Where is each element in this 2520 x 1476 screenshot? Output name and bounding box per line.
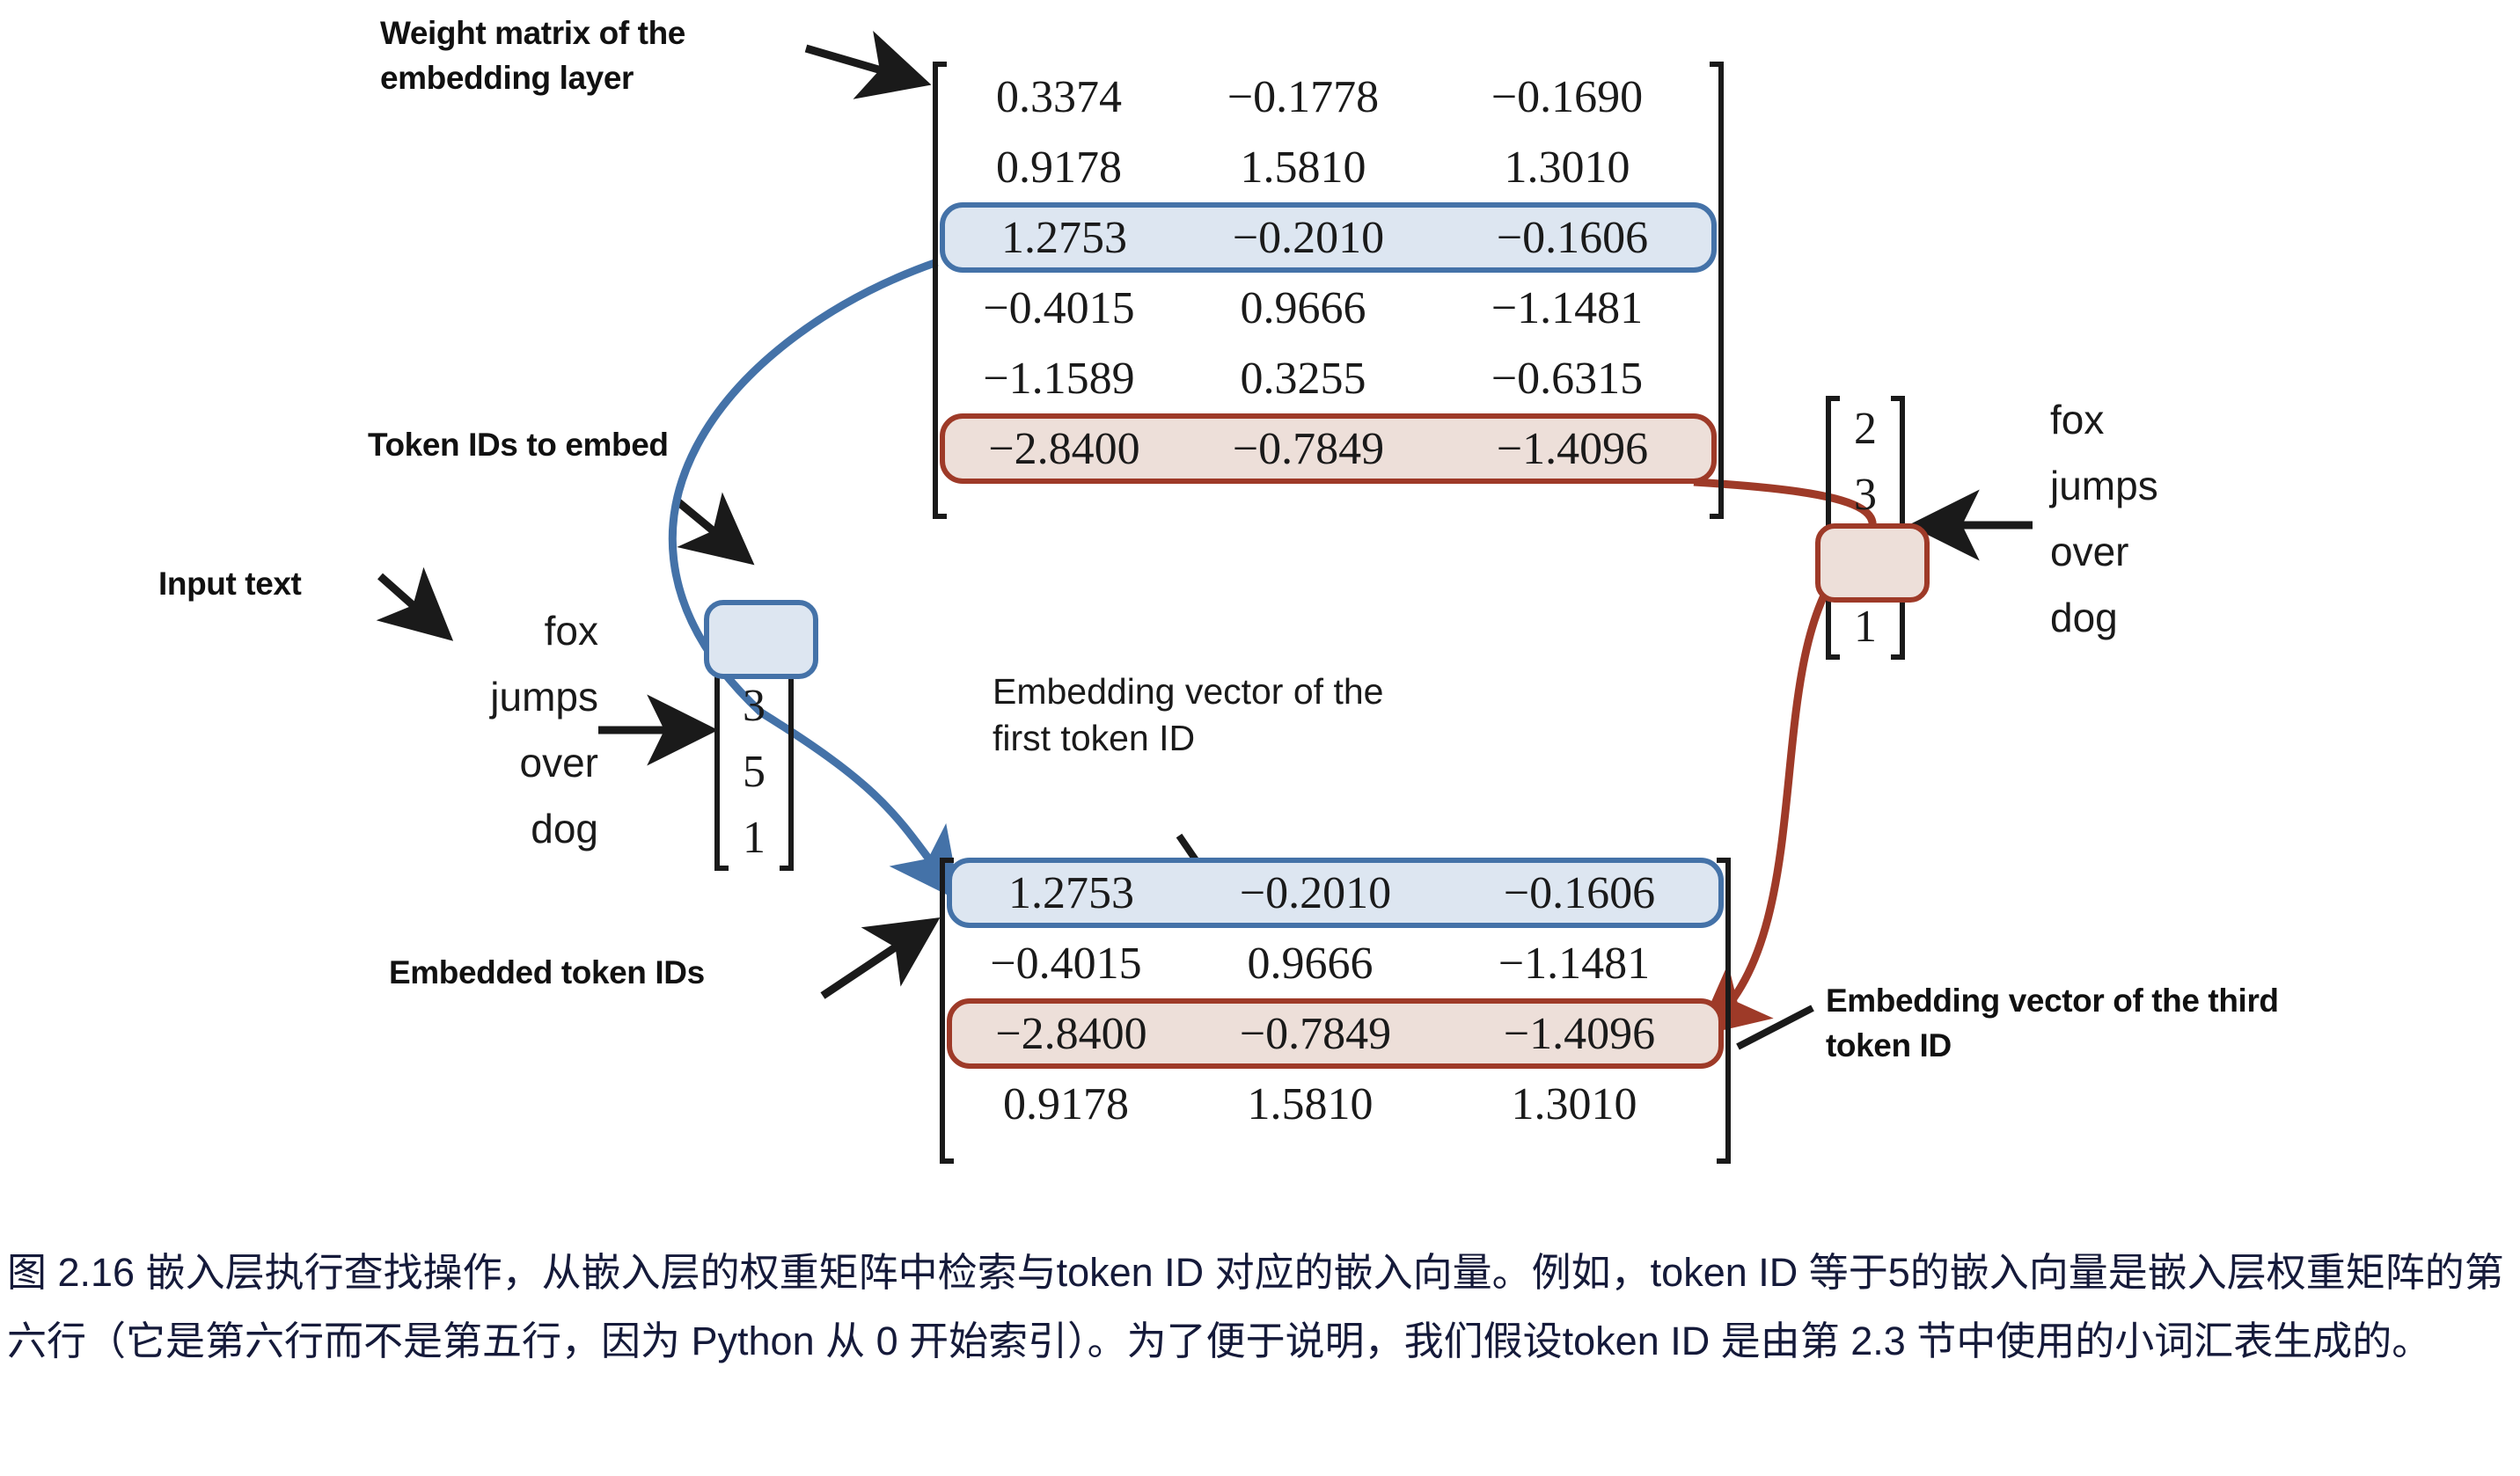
right-words: fox jumps over dog	[2050, 387, 2314, 651]
matrix-cell: −1.1589	[947, 353, 1171, 405]
matrix-cell: −0.7849	[1183, 1008, 1447, 1060]
weight-matrix-row-highlight-red: −2.8400 −0.7849 −1.4096	[940, 413, 1717, 484]
token-id-cell: 3	[1854, 469, 1877, 521]
matrix-cell: −1.4096	[1440, 423, 1704, 475]
matrix-cell: −0.2010	[1183, 867, 1447, 919]
matrix-cell: 1.3010	[1442, 1078, 1706, 1130]
weight-matrix-row: 0.3374 −0.1778 −0.1690	[947, 62, 1710, 132]
token-id-cell: 3	[743, 680, 766, 732]
matrix-cell: −0.1690	[1435, 71, 1699, 123]
embedded-matrix-row-highlight-red: −2.8400 −0.7849 −1.4096	[947, 998, 1724, 1069]
token-id-highlight-blue	[704, 600, 818, 679]
right-word: over	[2050, 519, 2314, 585]
figure-caption: 图 2.16 嵌入层执行查找操作，从嵌入层的权重矩阵中检索与token ID 对…	[7, 1239, 2513, 1376]
embedded-matrix-row: 0.9178 1.5810 1.3010	[954, 1069, 1717, 1139]
token-id-highlight-red	[1815, 523, 1930, 603]
matrix-cell: −2.8400	[959, 1008, 1183, 1060]
label-embedding-vector-third: Embedding vector of the third token ID	[1826, 978, 2442, 1068]
matrix-cell: 1.2753	[959, 867, 1183, 919]
matrix-cell: −2.8400	[952, 423, 1176, 475]
matrix-cell: −1.1481	[1442, 938, 1706, 990]
embedded-matrix: 1.2753 −0.2010 −0.1606 −0.4015 0.9666 −1…	[940, 858, 1731, 1164]
matrix-cell: 0.9178	[954, 1078, 1178, 1130]
arrow-token-ids-to-embed	[678, 501, 744, 556]
input-text-words: fox jumps over dog	[378, 598, 598, 862]
token-id-cell: 5	[743, 746, 766, 798]
matrix-cell: −0.1606	[1440, 212, 1704, 264]
label-token-ids-to-embed: Token IDs to embed	[368, 422, 773, 467]
matrix-cell: −0.4015	[954, 938, 1178, 990]
matrix-cell: −0.1606	[1447, 867, 1711, 919]
embedded-matrix-row-highlight-blue: 1.2753 −0.2010 −0.1606	[947, 858, 1724, 928]
right-word: fox	[2050, 387, 2314, 453]
matrix-cell: 1.5810	[1178, 1078, 1442, 1130]
weight-matrix-row: −1.1589 0.3255 −0.6315	[947, 343, 1710, 413]
right-word: jumps	[2050, 453, 2314, 519]
embedded-matrix-row: −0.4015 0.9666 −1.1481	[954, 928, 1717, 998]
token-id-cell: 1	[1854, 601, 1877, 653]
weight-matrix-row: 0.9178 1.5810 1.3010	[947, 132, 1710, 202]
weight-matrix-row: −0.4015 0.9666 −1.1481	[947, 273, 1710, 343]
matrix-cell: 1.3010	[1435, 142, 1699, 194]
matrix-cell: 0.9666	[1171, 282, 1435, 334]
matrix-cell: 0.3374	[947, 71, 1171, 123]
matrix-cell: −0.7849	[1176, 423, 1440, 475]
matrix-cell: −0.2010	[1176, 212, 1440, 264]
input-word: fox	[378, 598, 598, 664]
matrix-cell: 1.5810	[1171, 142, 1435, 194]
input-word: dog	[378, 796, 598, 862]
leader-embedding-vector-third	[1738, 1008, 1813, 1047]
weight-matrix-row-highlight-blue: 1.2753 −0.2010 −0.1606	[940, 202, 1717, 273]
matrix-cell: 0.3255	[1171, 353, 1435, 405]
arrow-weight-matrix	[806, 48, 918, 81]
token-id-cell: 2	[1854, 403, 1877, 455]
matrix-cell: −0.6315	[1435, 353, 1699, 405]
label-embedding-vector-first: Embedding vector of the first token ID	[993, 669, 1626, 762]
matrix-cell: 1.2753	[952, 212, 1176, 264]
matrix-cell: −0.4015	[947, 282, 1171, 334]
label-embedded-token-ids: Embedded token IDs	[389, 950, 882, 995]
input-word: jumps	[378, 664, 598, 730]
matrix-cell: −1.4096	[1447, 1008, 1711, 1060]
right-word: dog	[2050, 585, 2314, 651]
matrix-cell: −1.1481	[1435, 282, 1699, 334]
token-id-cell: 1	[743, 812, 766, 864]
figure-canvas: Weight matrix of the embedding layer Tok…	[0, 0, 2520, 1476]
matrix-cell: 0.9666	[1178, 938, 1442, 990]
matrix-cell: 0.9178	[947, 142, 1171, 194]
label-weight-matrix: Weight matrix of the embedding layer	[380, 11, 794, 100]
input-word: over	[378, 730, 598, 796]
weight-matrix: 0.3374 −0.1778 −0.1690 0.9178 1.5810 1.3…	[933, 62, 1724, 519]
matrix-cell: −0.1778	[1171, 71, 1435, 123]
